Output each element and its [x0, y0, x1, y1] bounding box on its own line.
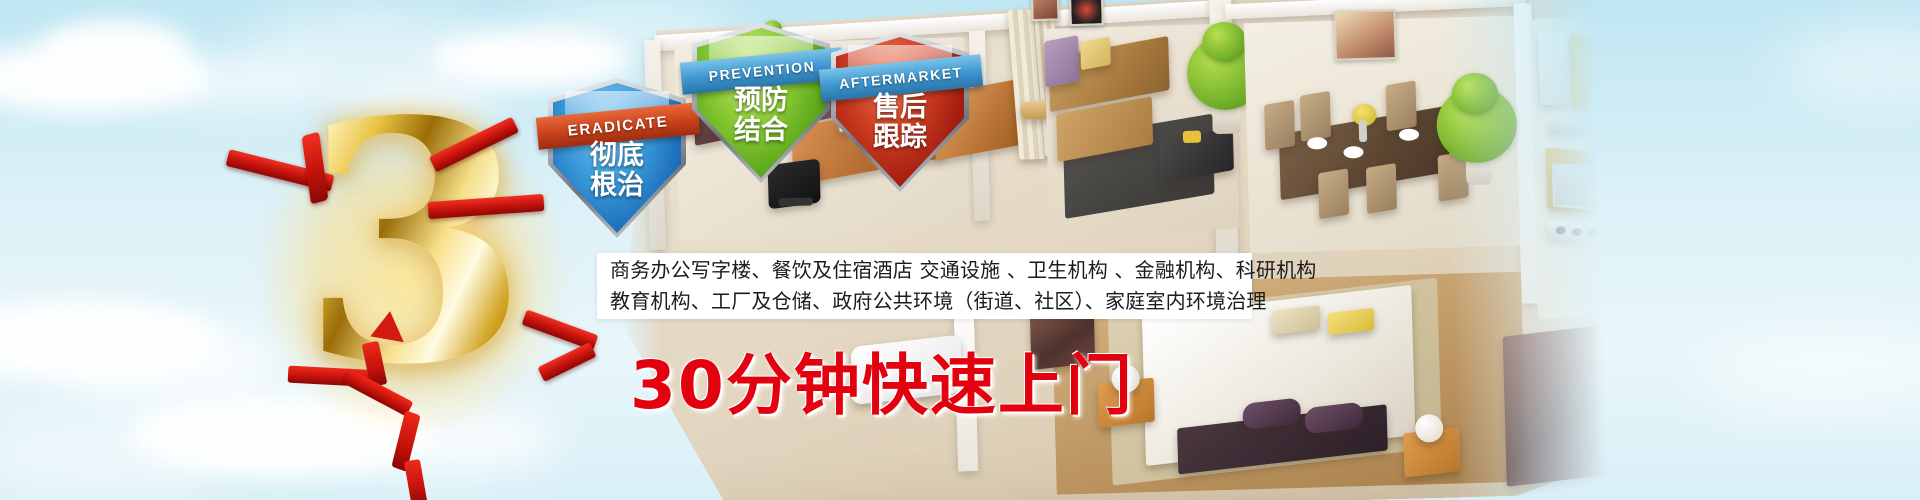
promo-banner: ERADICATE 彻底 根治 PREVENTION 预防 结合 AFTERMA…: [0, 0, 1920, 500]
shield-english-label: ERADICATE: [567, 113, 669, 140]
scope-line-2: 教育机构、工厂及仓储、政府公共环境（街道、社区）、家庭室内环境治理: [610, 286, 1242, 317]
shield-prevention[interactable]: PREVENTION 预防 结合: [697, 28, 825, 178]
shield-cn-line1: 售后: [836, 93, 964, 121]
kitchen-upper-cabinet: [1570, 35, 1638, 114]
wall-picture-frame: [1334, 9, 1397, 61]
shield-english-label: AFTERMARKET: [838, 64, 963, 92]
shield-cn-line1: 预防: [697, 86, 825, 114]
shield-english-label: PREVENTION: [708, 58, 816, 84]
scope-text-panel: 商务办公写字楼、餐饮及住宿酒店 交通设施 、卫生机构 、金融机构、科研机构 教育…: [597, 253, 1252, 319]
shield-aftermarket[interactable]: AFTERMARKET 售后 跟踪: [836, 37, 964, 187]
shield-cn-line2: 结合: [697, 116, 825, 144]
scope-line-1: 商务办公写字楼、餐饮及住宿酒店 交通设施 、卫生机构 、金融机构、科研机构: [610, 255, 1242, 286]
shield-cn-line2: 跟踪: [836, 123, 964, 151]
headline-text: 30分钟快速上门: [630, 332, 1134, 428]
arrow-ribbon: [250, 300, 580, 500]
